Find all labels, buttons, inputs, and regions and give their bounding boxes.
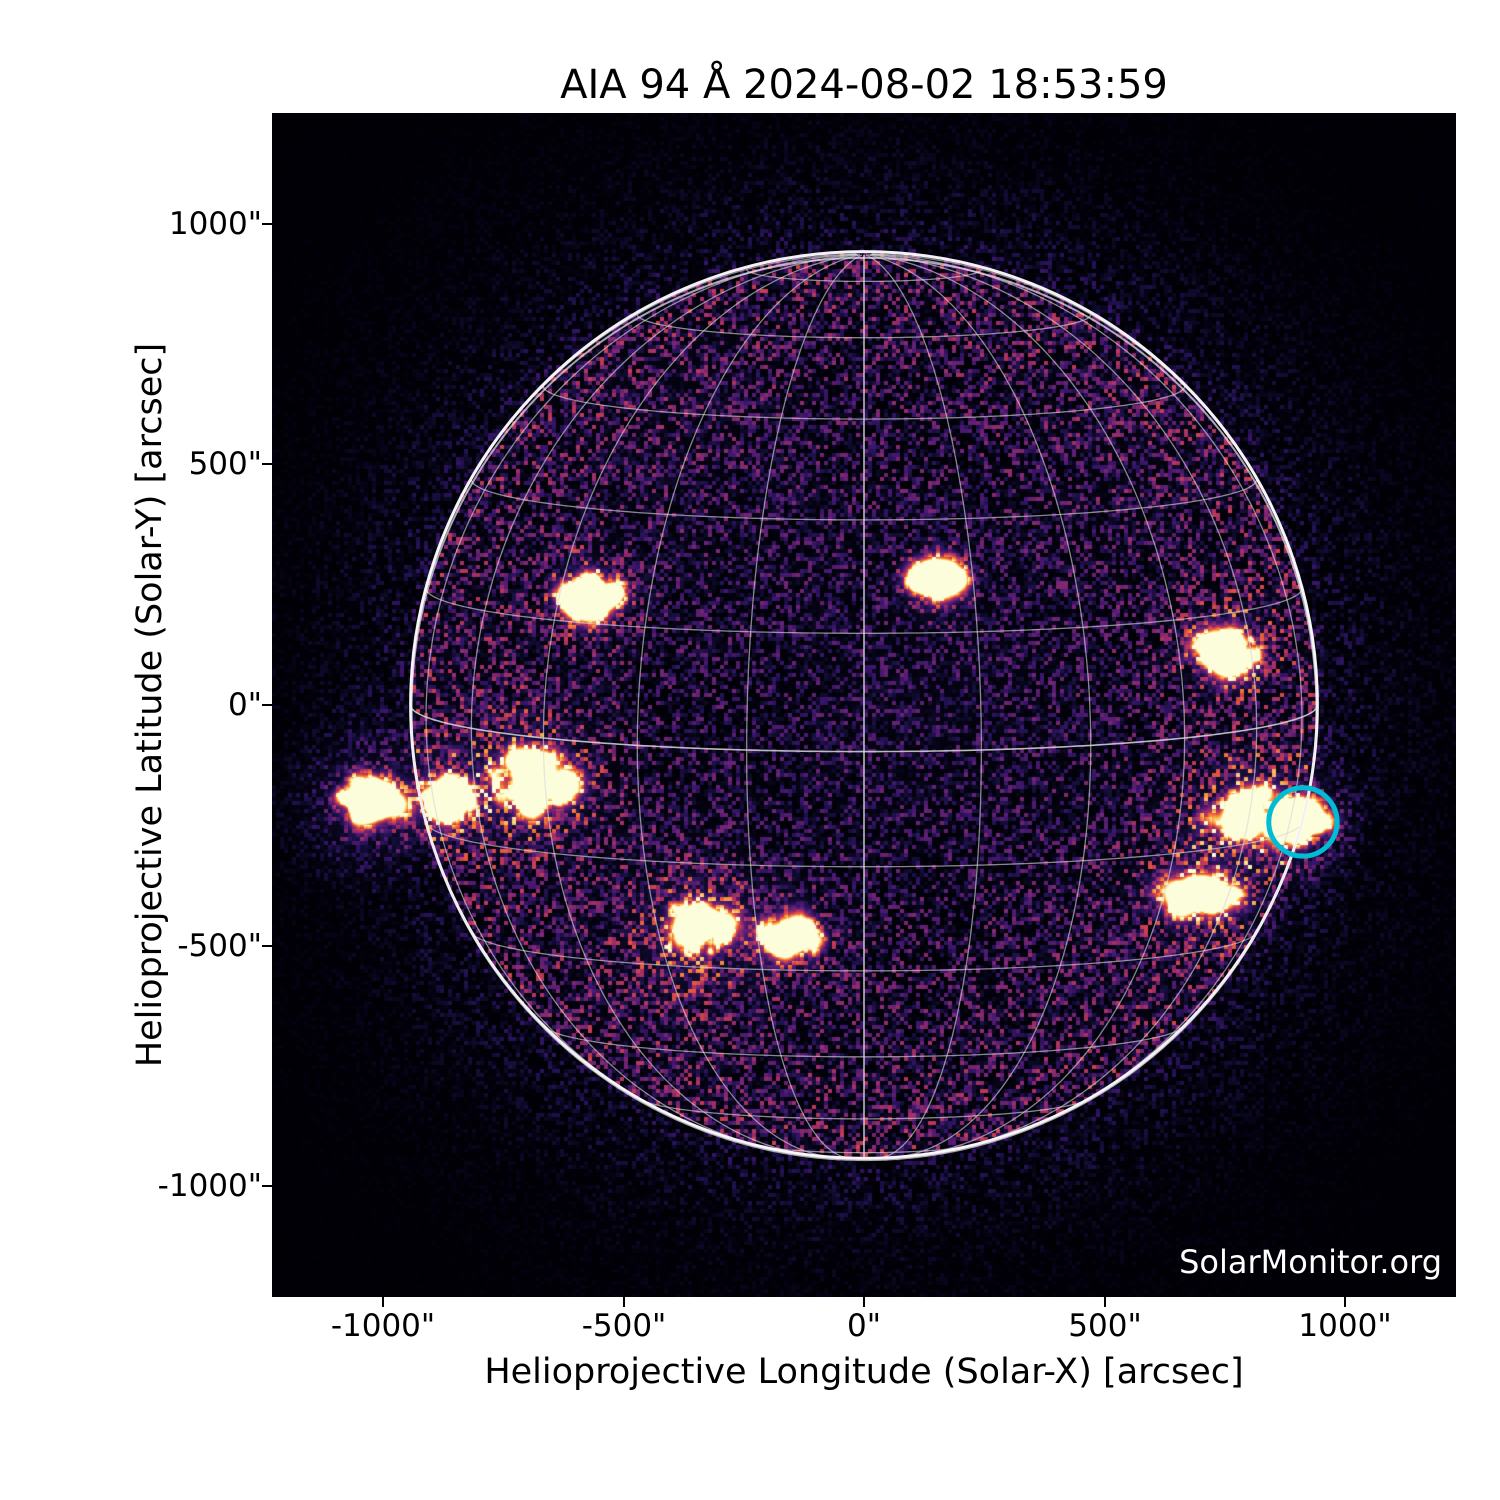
ytick-label-neg500: -500" <box>177 928 262 964</box>
xtick-label-0: 0" <box>847 1308 881 1344</box>
x-axis-label: Helioprojective Longitude (Solar-X) [arc… <box>272 1352 1456 1392</box>
xtick-label-neg1000: -1000" <box>331 1308 435 1344</box>
page-title: AIA 94 Å 2024-08-02 18:53:59 <box>272 62 1456 108</box>
grid-meridian-90 <box>872 254 1318 791</box>
xtick-mark-0 <box>863 1297 865 1307</box>
grid-meridian--15 <box>747 255 862 1158</box>
grid-meridian--75 <box>426 254 856 1137</box>
xtick-label-500: 500" <box>1068 1308 1141 1344</box>
xtick-mark-500 <box>1104 1297 1106 1307</box>
ytick-mark-500 <box>262 463 272 465</box>
ytick-label-1000: 1000" <box>169 206 262 242</box>
xtick-mark-neg500 <box>623 1297 625 1307</box>
xtick-mark-neg1000 <box>382 1297 384 1307</box>
xtick-label-neg500: -500" <box>582 1308 667 1344</box>
grid-meridian-60 <box>871 255 1257 1154</box>
grid-meridian--60 <box>471 255 857 1154</box>
solar-image-plot-area[interactable]: SolarMonitor.org <box>272 113 1456 1297</box>
y-axis-label: Helioprojective Latitude (Solar-Y) [arcs… <box>130 113 170 1297</box>
grid-meridian-45 <box>870 255 1185 1157</box>
ytick-mark-1000 <box>262 223 272 225</box>
ytick-mark-neg500 <box>262 945 272 947</box>
heliographic-grid-overlay <box>272 113 1456 1297</box>
ytick-label-500: 500" <box>189 446 262 482</box>
ytick-mark-0 <box>262 704 272 706</box>
ytick-label-neg1000: -1000" <box>158 1168 262 1204</box>
xtick-mark-1000 <box>1344 1297 1346 1307</box>
solar-image-figure: AIA 94 Å 2024-08-02 18:53:59 SolarMonito… <box>0 0 1500 1500</box>
ytick-mark-neg1000 <box>262 1185 272 1187</box>
grid-meridian-15 <box>866 255 981 1158</box>
grid-meridian-75 <box>872 254 1302 1137</box>
grid-meridian--30 <box>637 255 860 1158</box>
grid-lines <box>411 254 1318 1158</box>
grid-meridian--90 <box>411 254 856 791</box>
solarmonitor-watermark: SolarMonitor.org <box>1179 1243 1442 1281</box>
ytick-label-0: 0" <box>228 687 262 723</box>
grid-meridian--45 <box>543 255 858 1157</box>
xtick-label-1000: 1000" <box>1298 1308 1391 1344</box>
grid-meridian-30 <box>868 255 1091 1158</box>
